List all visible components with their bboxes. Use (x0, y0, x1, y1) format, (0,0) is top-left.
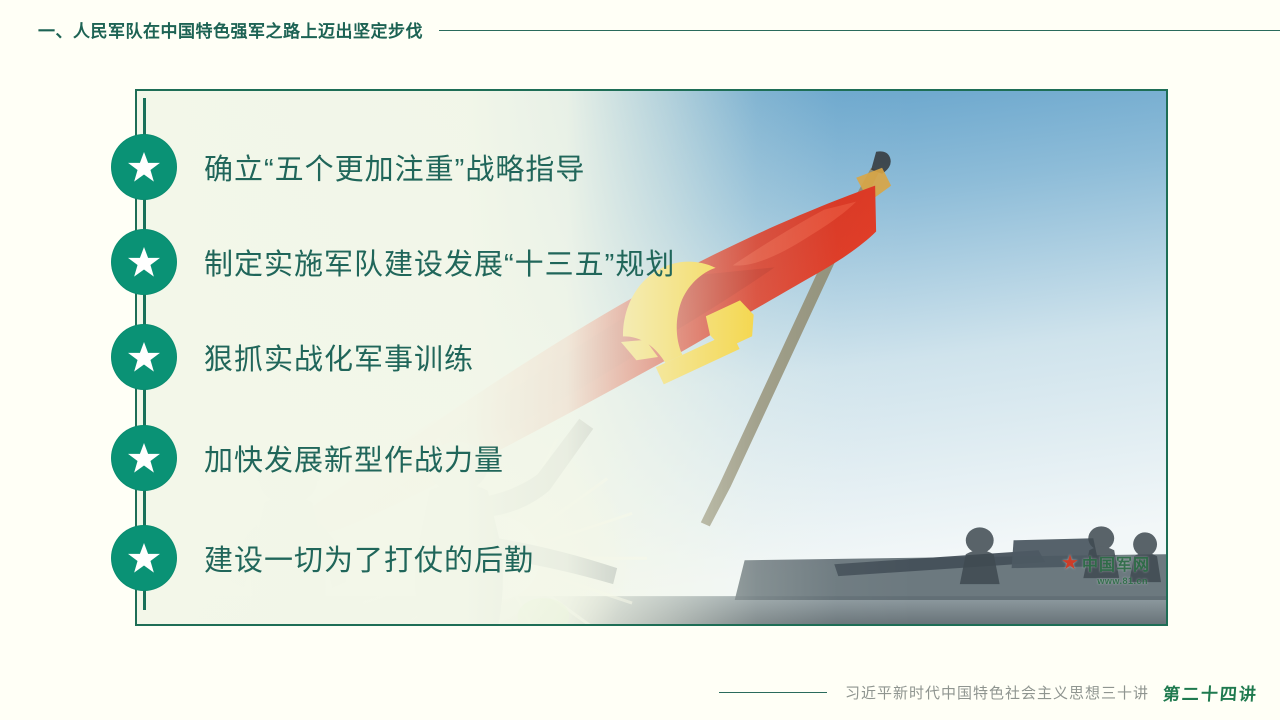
watermark-row: ★ 中国军网 (1061, 551, 1150, 575)
bullet-marker (111, 229, 177, 295)
bullet-marker (111, 324, 177, 390)
slide-header: 一、人民军队在中国特色强军之路上迈出坚定步伐 (0, 0, 1280, 58)
bullet-label: 确立“五个更加注重”战略指导 (204, 146, 585, 188)
bullet-label: 加快发展新型作战力量 (204, 437, 504, 479)
watermark-url: www.81.cn (1097, 576, 1148, 586)
bullet-item-4[interactable]: 加快发展新型作战力量 (111, 425, 504, 491)
bullet-item-2[interactable]: 制定实施军队建设发展“十三五”规划 (111, 229, 675, 295)
bullet-label: 狠抓实战化军事训练 (204, 336, 474, 378)
star-icon (111, 525, 177, 591)
star-icon (111, 425, 177, 491)
watermark: ★ 中国军网 www.81.cn (1061, 551, 1150, 586)
footer-lecture-number: 第二十四讲 (1162, 680, 1259, 705)
bullet-marker (111, 425, 177, 491)
bullet-item-5[interactable]: 建设一切为了打仗的后勤 (111, 525, 534, 591)
watermark-text: 中国军网 (1082, 551, 1150, 575)
page-title: 一、人民军队在中国特色强军之路上迈出坚定步伐 (38, 17, 423, 42)
bullet-marker (111, 134, 177, 200)
header-divider (439, 30, 1280, 31)
bullet-item-1[interactable]: 确立“五个更加注重”战略指导 (111, 134, 585, 200)
footer-series-title: 习近平新时代中国特色社会主义思想三十讲 (845, 682, 1149, 703)
star-icon (111, 324, 177, 390)
star-icon (111, 134, 177, 200)
footer-divider (719, 692, 827, 693)
slide: 一、人民军队在中国特色强军之路上迈出坚定步伐 (0, 0, 1280, 720)
star-icon: ★ (1061, 553, 1079, 573)
bullet-label: 制定实施军队建设发展“十三五”规划 (204, 241, 675, 283)
slide-footer: 习近平新时代中国特色社会主义思想三十讲 第二十四讲 (0, 664, 1280, 720)
bullet-item-3[interactable]: 狠抓实战化军事训练 (111, 324, 474, 390)
bullet-marker (111, 525, 177, 591)
star-icon (111, 229, 177, 295)
bullet-label: 建设一切为了打仗的后勤 (204, 537, 534, 579)
